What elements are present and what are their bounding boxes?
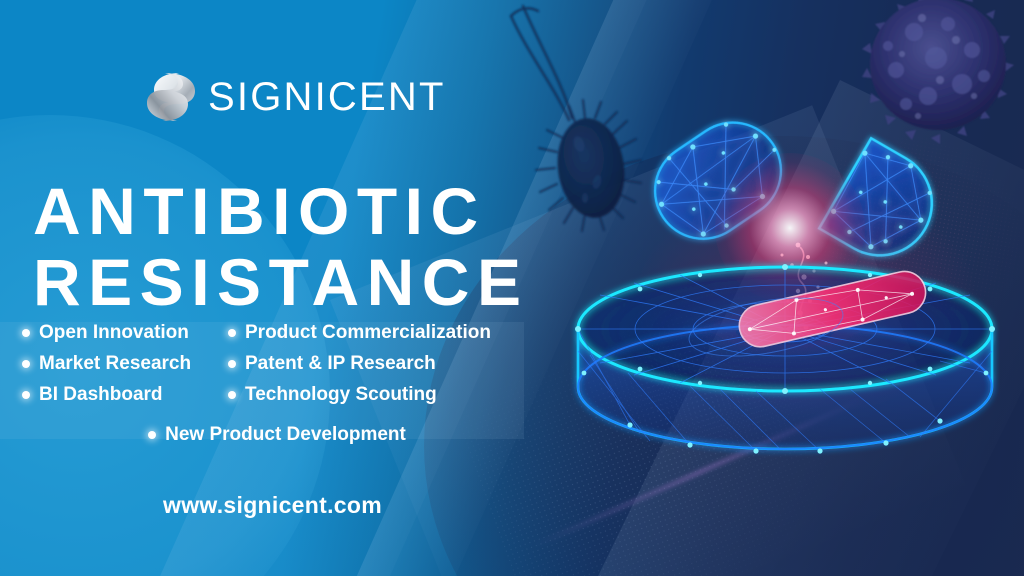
bullet-dot-icon xyxy=(228,360,236,368)
background-diagonal-band xyxy=(533,80,1024,576)
background-violet-streak xyxy=(535,397,866,547)
bullet-dot-icon xyxy=(228,329,236,337)
bullet-dot-icon xyxy=(148,431,156,439)
service-label: BI Dashboard xyxy=(39,384,163,406)
virus-particle-icon xyxy=(844,0,1024,163)
services-list: Open Innovation Product Commercializatio… xyxy=(0,322,540,446)
service-item-bi-dashboard[interactable]: BI Dashboard xyxy=(0,384,224,406)
service-item-product-commercialization[interactable]: Product Commercialization xyxy=(224,322,540,344)
brand-logo[interactable]: SIGNICENT xyxy=(146,70,446,124)
service-item-new-product-development[interactable]: New Product Development xyxy=(0,424,540,446)
page-title: ANTIBIOTIC RESISTANCE xyxy=(33,176,529,319)
service-label: Market Research xyxy=(39,353,191,375)
bullet-dot-icon xyxy=(228,391,236,399)
bacterium-silhouette-icon xyxy=(505,0,690,242)
service-label: Technology Scouting xyxy=(245,384,437,406)
background-dot-mesh xyxy=(533,218,887,543)
service-label: Open Innovation xyxy=(39,322,189,344)
brand-name: SIGNICENT xyxy=(208,77,446,117)
service-label: Patent & IP Research xyxy=(245,353,436,375)
service-item-patent-ip-research[interactable]: Patent & IP Research xyxy=(224,353,540,375)
bullet-dot-icon xyxy=(22,329,30,337)
capsule-release-glow xyxy=(715,153,865,303)
petri-dish-wireframe-icon xyxy=(570,255,1000,495)
bullet-dot-icon xyxy=(22,360,30,368)
service-label: New Product Development xyxy=(165,424,406,446)
service-item-market-research[interactable]: Market Research xyxy=(0,353,224,375)
capsule-wireframe-icon xyxy=(612,95,984,345)
website-url[interactable]: www.signicent.com xyxy=(163,492,382,519)
background-dot-mesh xyxy=(802,102,1024,368)
service-item-open-innovation[interactable]: Open Innovation xyxy=(0,322,224,344)
signicent-s-mark-icon xyxy=(146,70,196,124)
service-item-technology-scouting[interactable]: Technology Scouting xyxy=(224,384,540,406)
bacteria-glow-halo xyxy=(636,185,976,415)
bullet-dot-icon xyxy=(22,391,30,399)
page-title-line-1: ANTIBIOTIC xyxy=(33,176,529,247)
page-title-line-2: RESISTANCE xyxy=(33,247,529,318)
banner: SIGNICENT ANTIBIOTIC RESISTANCE Open Inn… xyxy=(0,0,1024,576)
service-label: Product Commercialization xyxy=(245,322,491,344)
